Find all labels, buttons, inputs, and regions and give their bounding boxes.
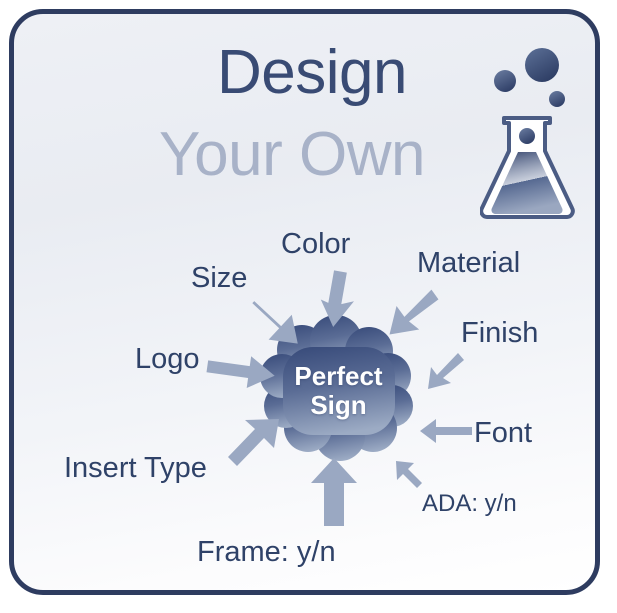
arrow-up-icon-frame — [309, 456, 359, 528]
cloud-label-line1: Perfect — [294, 362, 382, 391]
attribute-label-frame: Frame: y/n — [197, 538, 336, 567]
arrow-down-right-icon-size — [251, 292, 321, 352]
arrow-left-icon-font — [418, 416, 474, 446]
arrow-down-left-icon-material — [377, 282, 439, 344]
attribute-label-font: Font — [474, 419, 532, 448]
attribute-label-material: Material — [417, 249, 520, 278]
attribute-label-ada: ADA: y/n — [422, 492, 517, 516]
design-your-own-card: Design Your Own — [9, 9, 600, 595]
attribute-label-insert-type: Insert Type — [64, 454, 207, 483]
arrow-right-icon-logo — [205, 352, 277, 390]
arrow-up-left-icon-ada — [392, 458, 426, 492]
attribute-diagram: Perfect Sign Size Color Material Finish … — [14, 14, 595, 590]
arrow-up-right-icon-insert-type — [222, 416, 284, 478]
arrow-down-left-icon-finish — [418, 348, 466, 396]
attribute-label-logo: Logo — [135, 345, 200, 374]
attribute-label-size: Size — [191, 264, 247, 293]
attribute-label-color: Color — [281, 230, 350, 259]
cloud-label-line2: Sign — [310, 391, 366, 420]
arrow-down-icon-color — [319, 270, 369, 332]
attribute-label-finish: Finish — [461, 319, 538, 348]
